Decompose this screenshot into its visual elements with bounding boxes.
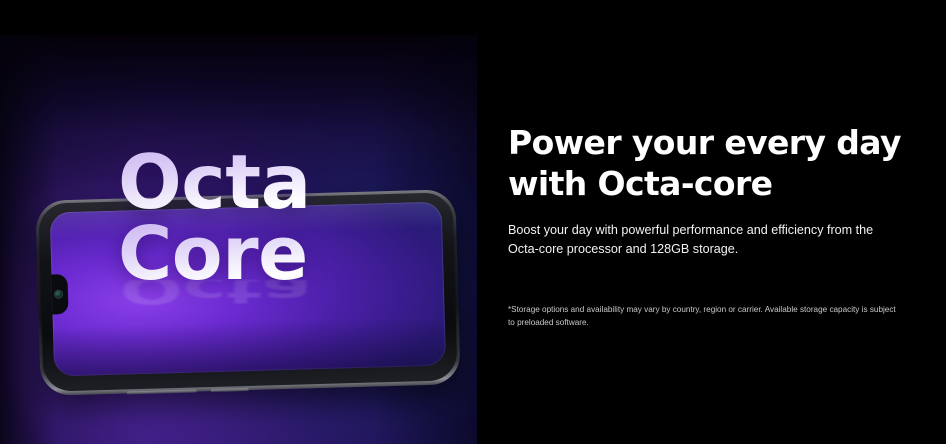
product-visual-panel: Octa Octa Core bbox=[0, 35, 477, 444]
lockup-line-octa: Octa bbox=[118, 147, 378, 218]
headline-line-1: Power your every day bbox=[508, 122, 908, 163]
copy-column: Power your every day with Octa-core Boos… bbox=[508, 0, 908, 444]
lockup-line-core: Core bbox=[118, 220, 378, 290]
body-paragraph: Boost your day with powerful performance… bbox=[508, 220, 888, 258]
headline-line-2: with Octa-core bbox=[508, 163, 908, 204]
octa-core-lockup: Octa Core bbox=[118, 147, 378, 289]
promo-banner: Octa Octa Core Power your every day with… bbox=[0, 0, 946, 444]
headline: Power your every day with Octa-core bbox=[508, 122, 908, 205]
legal-disclaimer: *Storage options and availability may va… bbox=[508, 303, 898, 330]
